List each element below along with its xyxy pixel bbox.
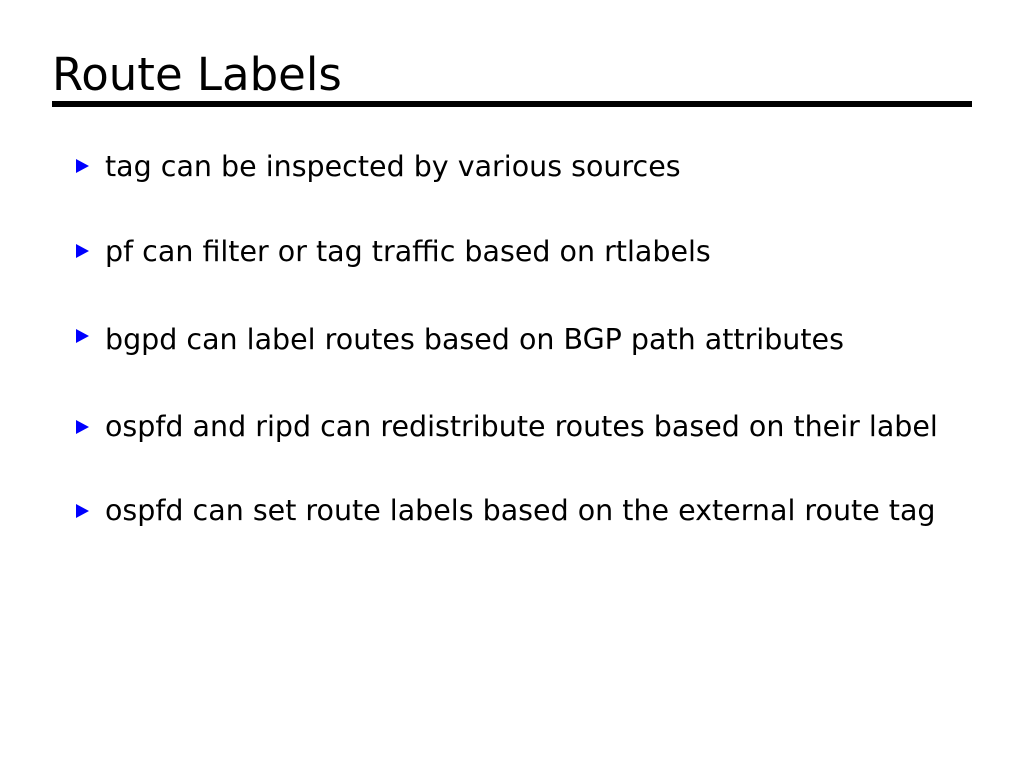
page-title: Route Labels [52, 48, 972, 101]
list-item: ospfd can set route labels based on the … [72, 491, 972, 531]
list-item-label: ospfd and ripd can redistribute routes b… [105, 407, 945, 447]
list-item: pf can filter or tag traffic based on rt… [72, 231, 972, 272]
bullet-list: tag can be inspected by various sources … [72, 146, 972, 531]
presentation-slide: Route Labels tag can be inspected by var… [0, 0, 1024, 768]
list-item-label: bgpd can label routes based on BGP path … [105, 316, 945, 363]
title-underline-rule [52, 101, 972, 107]
triangle-right-icon [76, 420, 89, 434]
slide-title-block: Route Labels [52, 48, 972, 101]
triangle-right-icon [76, 159, 89, 173]
list-item-label: tag can be inspected by various sources [105, 146, 945, 187]
triangle-right-icon [76, 329, 89, 343]
triangle-right-icon [76, 504, 89, 518]
list-item-label: ospfd can set route labels based on the … [105, 491, 945, 531]
list-item: tag can be inspected by various sources [72, 146, 972, 187]
list-item: ospfd and ripd can redistribute routes b… [72, 407, 972, 447]
list-item: bgpd can label routes based on BGP path … [72, 316, 972, 363]
list-item-label: pf can filter or tag traffic based on rt… [105, 231, 945, 272]
triangle-right-icon [76, 244, 89, 258]
